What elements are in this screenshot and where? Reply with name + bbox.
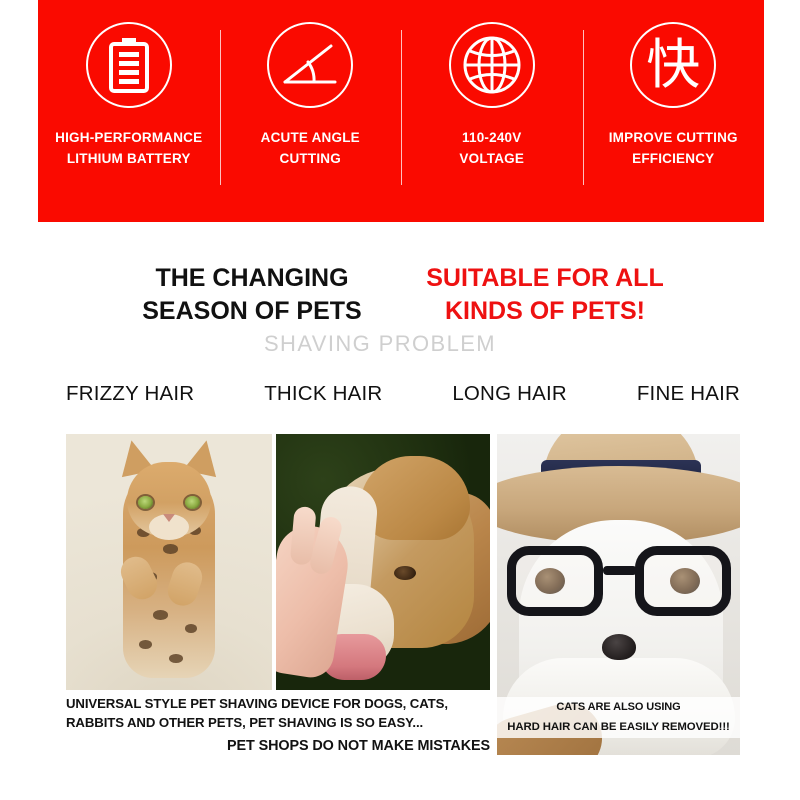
acute-angle-icon [267, 22, 353, 108]
headline-section: THE CHANGING SEASON OF PETS SUITABLE FOR… [0, 255, 800, 365]
headline-left: THE CHANGING SEASON OF PETS [118, 262, 386, 329]
cat-photo-backdrop [66, 434, 272, 690]
hair-type-label: THICK HAIR [264, 382, 382, 406]
hair-type-label: FINE HAIR [637, 382, 740, 406]
feature-item-voltage: 110-240V VOLTAGE [401, 0, 583, 222]
feature-label: ACUTE ANGLE CUTTING [261, 128, 360, 170]
feature-item-battery: HIGH-PERFORMANCE LITHIUM BATTERY [38, 0, 220, 222]
globe-icon [449, 22, 535, 108]
glasses-lens-right [635, 546, 731, 616]
cat-eye-left [138, 496, 153, 509]
dog-eye [394, 566, 416, 580]
headline-right: SUITABLE FOR ALL KINDS OF PETS! [405, 262, 685, 329]
caption-right: CATS ARE ALSO USING HARD HAIR CAN BE EAS… [497, 697, 740, 738]
dog-crown [360, 456, 470, 540]
caption-right-line2: HARD HAIR CAN BE EASILY REMOVED!!! [497, 717, 740, 738]
caption-right-line1: CATS ARE ALSO USING [497, 697, 740, 717]
bengal-cat-photo [66, 434, 272, 690]
glasses-lens-left [507, 546, 603, 616]
feature-label: 110-240V VOLTAGE [459, 128, 524, 170]
caption-left-line2: RABBITS AND OTHER PETS, PET SHAVING IS S… [66, 715, 423, 730]
headline-watermark: SHAVING PROBLEM [0, 331, 760, 357]
battery-icon [86, 22, 172, 108]
feature-banner: HIGH-PERFORMANCE LITHIUM BATTERY ACUTE A… [38, 0, 764, 222]
feature-item-acute-angle: ACUTE ANGLE CUTTING [220, 0, 402, 222]
caption-left: UNIVERSAL STYLE PET SHAVING DEVICE FOR D… [66, 694, 490, 757]
feature-label: IMPROVE CUTTING EFFICIENCY [609, 128, 738, 170]
white-dog-nose [602, 634, 636, 660]
feature-label: HIGH-PERFORMANCE LITHIUM BATTERY [55, 128, 202, 170]
black-glasses-icon [503, 546, 735, 618]
caption-left-line3: PET SHOPS DO NOT MAKE MISTAKES [66, 736, 490, 757]
caption-left-line1: UNIVERSAL STYLE PET SHAVING DEVICE FOR D… [66, 696, 448, 711]
hair-type-label: LONG HAIR [452, 382, 567, 406]
cat-nose [163, 514, 175, 522]
brown-dog-photo [276, 434, 490, 690]
glasses-bridge [603, 566, 637, 575]
hair-type-row: FRIZZY HAIR THICK HAIR LONG HAIR FINE HA… [66, 378, 740, 410]
cat-eye-right [185, 496, 200, 509]
feature-item-efficiency: 快 IMPROVE CUTTING EFFICIENCY [583, 0, 765, 222]
hair-type-label: FRIZZY HAIR [66, 382, 194, 406]
dog-photo-backdrop [276, 434, 490, 690]
fast-kanji-icon: 快 [630, 22, 716, 108]
fast-kanji-glyph: 快 [646, 38, 700, 92]
